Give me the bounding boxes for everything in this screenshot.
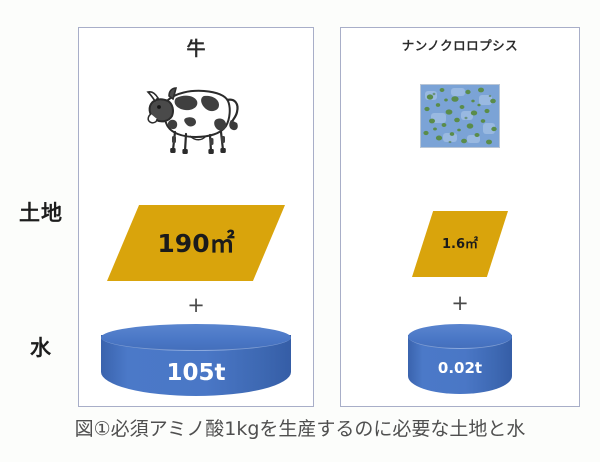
cow-illustration	[142, 74, 250, 158]
land-parallelogram-algae: 1.6㎡	[412, 211, 508, 277]
land-value-algae: 1.6㎡	[442, 238, 478, 251]
subject-slot-cow	[79, 72, 313, 160]
water-slot-algae: 0.02t	[341, 324, 579, 420]
row-label-water: 水	[8, 338, 74, 359]
water-value-algae: 0.02t	[408, 361, 512, 376]
water-value-cow: 105t	[101, 362, 291, 385]
cylinder-top-ellipse	[101, 324, 291, 351]
plus-icon-algae: +	[341, 293, 579, 314]
plus-icon-cow: +	[79, 295, 313, 316]
nannochloropsis-micrograph	[420, 84, 500, 148]
subject-slot-algae	[341, 72, 579, 160]
land-value-cow: 190㎡	[157, 231, 234, 256]
panel-title-algae: ナンノクロロプシス	[341, 40, 579, 53]
land-slot-cow: 190㎡	[79, 198, 313, 288]
water-slot-cow: 105t	[79, 324, 313, 420]
water-cylinder-algae: 0.02t	[408, 324, 512, 394]
cylinder-top-ellipse	[408, 324, 512, 349]
panel-cow: 牛	[78, 27, 314, 407]
panel-algae: ナンノクロロプシス	[340, 27, 580, 407]
panel-title-cow: 牛	[79, 40, 313, 59]
figure-caption: 図①必須アミノ酸1kgを生産するのに必要な土地と水	[0, 418, 600, 441]
land-parallelogram-cow: 190㎡	[107, 205, 285, 281]
figure-root: 土地 水 牛	[0, 0, 600, 462]
land-slot-algae: 1.6㎡	[341, 203, 579, 285]
water-cylinder-cow: 105t	[101, 324, 291, 396]
row-label-land: 土地	[8, 203, 74, 224]
